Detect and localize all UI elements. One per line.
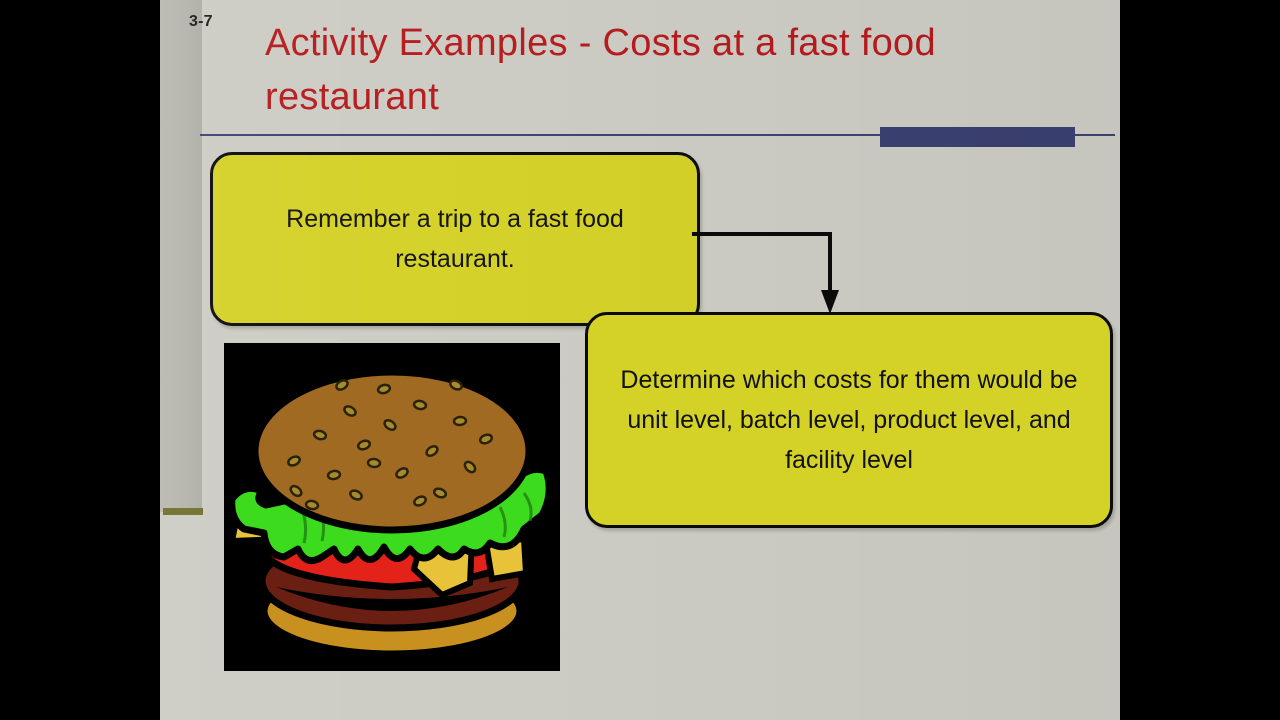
callout-determine-text: Determine which costs for them would be …	[610, 360, 1088, 480]
hamburger-image	[224, 343, 560, 671]
hamburger-icon	[224, 343, 560, 671]
callout-remember: Remember a trip to a fast food restauran…	[210, 152, 700, 326]
slide-viewer: 3-7 Activity Examples - Costs at a fast …	[0, 0, 1280, 720]
callout-remember-text: Remember a trip to a fast food restauran…	[239, 199, 671, 279]
slide-number: 3-7	[189, 13, 213, 31]
page-title: Activity Examples - Costs at a fast food…	[265, 16, 1075, 124]
left-band-accent-cap	[163, 508, 203, 515]
title-divider-accent-block	[880, 127, 1075, 147]
elbow-arrow-icon	[690, 228, 860, 318]
slide-canvas: 3-7 Activity Examples - Costs at a fast …	[160, 0, 1120, 720]
callout-determine: Determine which costs for them would be …	[585, 312, 1113, 528]
left-decorative-band	[160, 0, 202, 512]
